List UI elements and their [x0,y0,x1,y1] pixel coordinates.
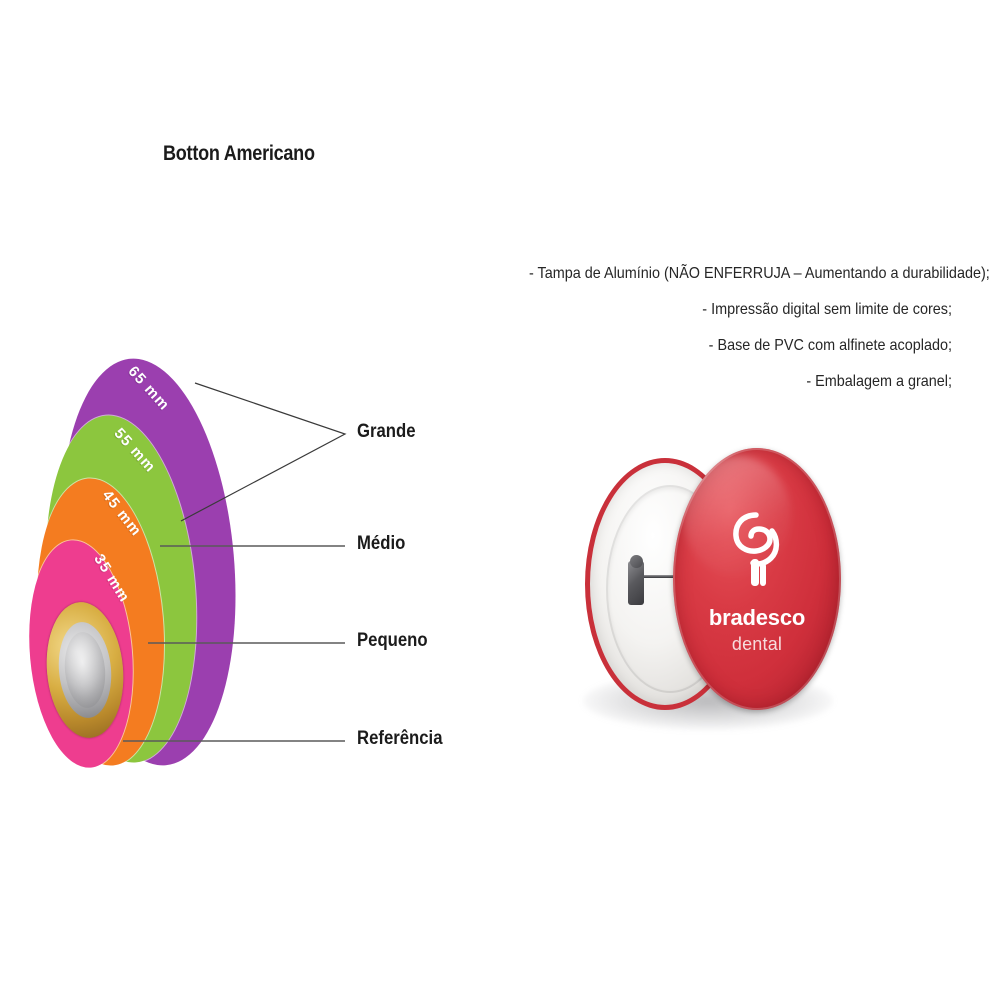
callout-grande: Grande [357,421,416,443]
brand-subtitle: dental [673,634,841,655]
spec-line: - Base de PVC com alfinete acoplado; [529,328,952,364]
spec-line: - Tampa de Alumínio (NÃO ENFERRUJA – Aum… [529,256,952,292]
spec-line: - Impressão digital sem limite de cores; [529,292,952,328]
spec-list: - Tampa de Alumínio (NÃO ENFERRUJA – Aum… [482,256,952,400]
sample-button-group: bradesco dental [575,440,845,740]
coin-inner-disc [55,620,115,720]
safety-pin-head [630,555,643,568]
bradesco-tree-logo [726,511,788,589]
page-title: Botton Americano [163,142,315,166]
callout-referencia: Referência [357,728,443,750]
diagram-canvas: Botton Americano - Tampa de Alumínio (NÃ… [0,0,1000,1000]
callout-medio: Médio [357,533,405,555]
spec-line: - Embalagem a granel; [529,364,952,400]
callout-pequeno: Pequeno [357,630,428,652]
button-front-face: bradesco dental [673,448,841,710]
coin-face-relief [62,630,108,709]
size-comparison-diagram: 65 mm 55 mm 45 mm 35 mm [0,330,330,800]
brand-name: bradesco [673,605,841,631]
